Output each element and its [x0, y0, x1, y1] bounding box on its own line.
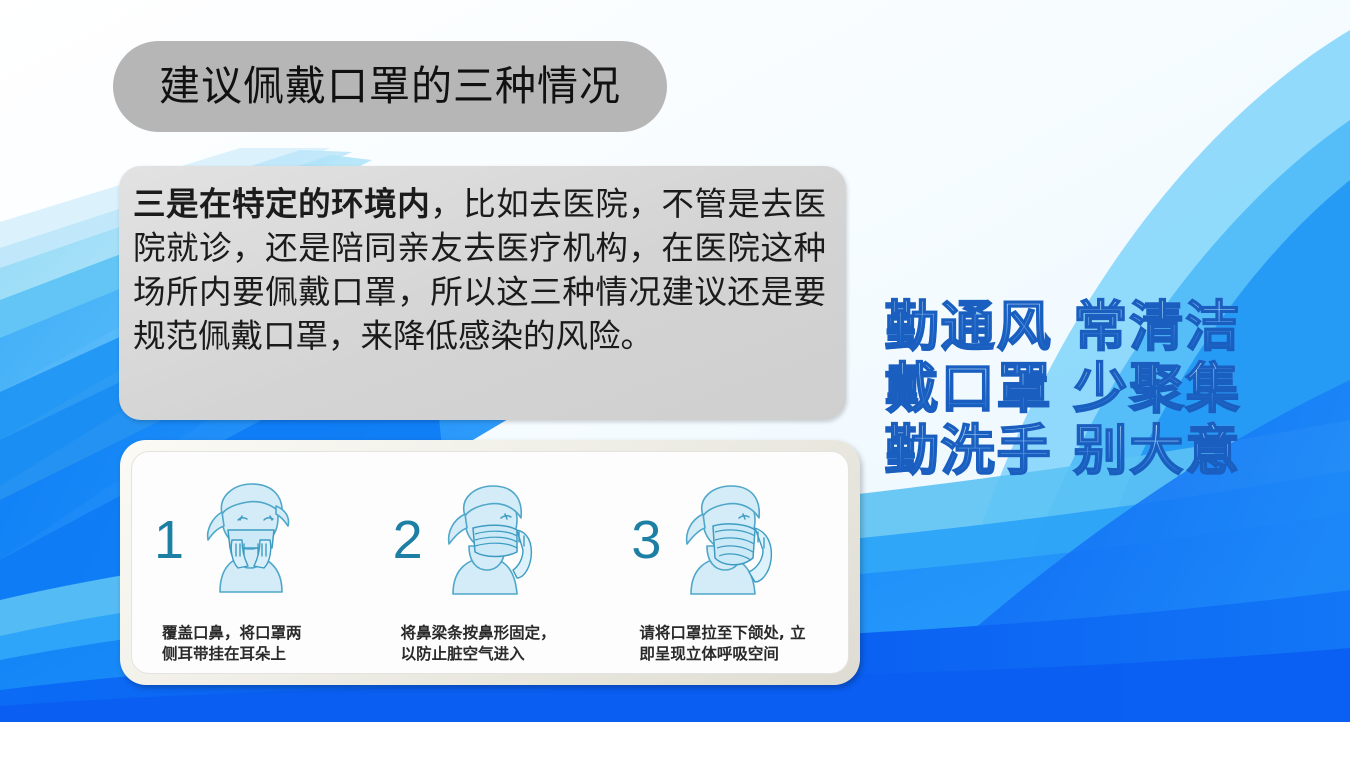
body-text-bubble: 三是在特定的环境内，比如去医院，不管是去医院就诊，还是陪同亲友去医疗机构，在医院… — [119, 166, 846, 420]
mask-steps-panel: 1 — [120, 440, 860, 685]
step-number-2: 2 — [375, 513, 425, 567]
mask-step-2: 2 — [371, 452, 610, 673]
slide-canvas: 建议佩戴口罩的三种情况 三是在特定的环境内，比如去医院，不管是去医院就诊，还是陪… — [0, 0, 1350, 722]
slide-bottom-margin — [0, 722, 1350, 759]
mask-step-3: 3 — [609, 452, 848, 673]
mask-step-3-art: 3 — [613, 456, 844, 623]
slide-title-pill: 建议佩戴口罩的三种情况 — [113, 41, 667, 132]
slogan-line-1: 勤通风 常清洁 — [878, 296, 1248, 358]
slogan-block: 勤通风 常清洁 戴口罩 少聚集 勤洗手 别大意 — [878, 296, 1248, 482]
mask-steps-row: 1 — [132, 452, 848, 673]
mask-pull-to-chin-icon — [663, 474, 791, 606]
body-paragraph: 三是在特定的环境内，比如去医院，不管是去医院就诊，还是陪同亲友去医疗机构，在医院… — [133, 182, 826, 358]
slogan-line-3: 勤洗手 别大意 — [878, 420, 1248, 482]
step-caption-2: 将鼻梁条按鼻形固定， 以防止脏空气进入 — [375, 623, 606, 673]
mask-step-1-art: 1 — [136, 456, 367, 623]
page-title: 建议佩戴口罩的三种情况 — [159, 66, 621, 107]
mask-steps-card: 1 — [131, 451, 849, 674]
mask-press-nose-bridge-icon — [425, 474, 553, 606]
step-number-1: 1 — [136, 513, 186, 567]
slogan-line-2: 戴口罩 少聚集 — [878, 358, 1248, 420]
mask-cover-nose-mouth-icon — [186, 474, 314, 606]
step-caption-1: 覆盖口鼻，将口罩两 侧耳带挂在耳朵上 — [136, 623, 367, 673]
step-number-3: 3 — [613, 513, 663, 567]
mask-step-2-art: 2 — [375, 456, 606, 623]
step-caption-3: 请将口罩拉至下颌处, 立 即呈现立体呼吸空间 — [613, 623, 844, 673]
mask-step-1: 1 — [132, 452, 371, 673]
body-lead: 三是在特定的环境内 — [133, 184, 430, 223]
